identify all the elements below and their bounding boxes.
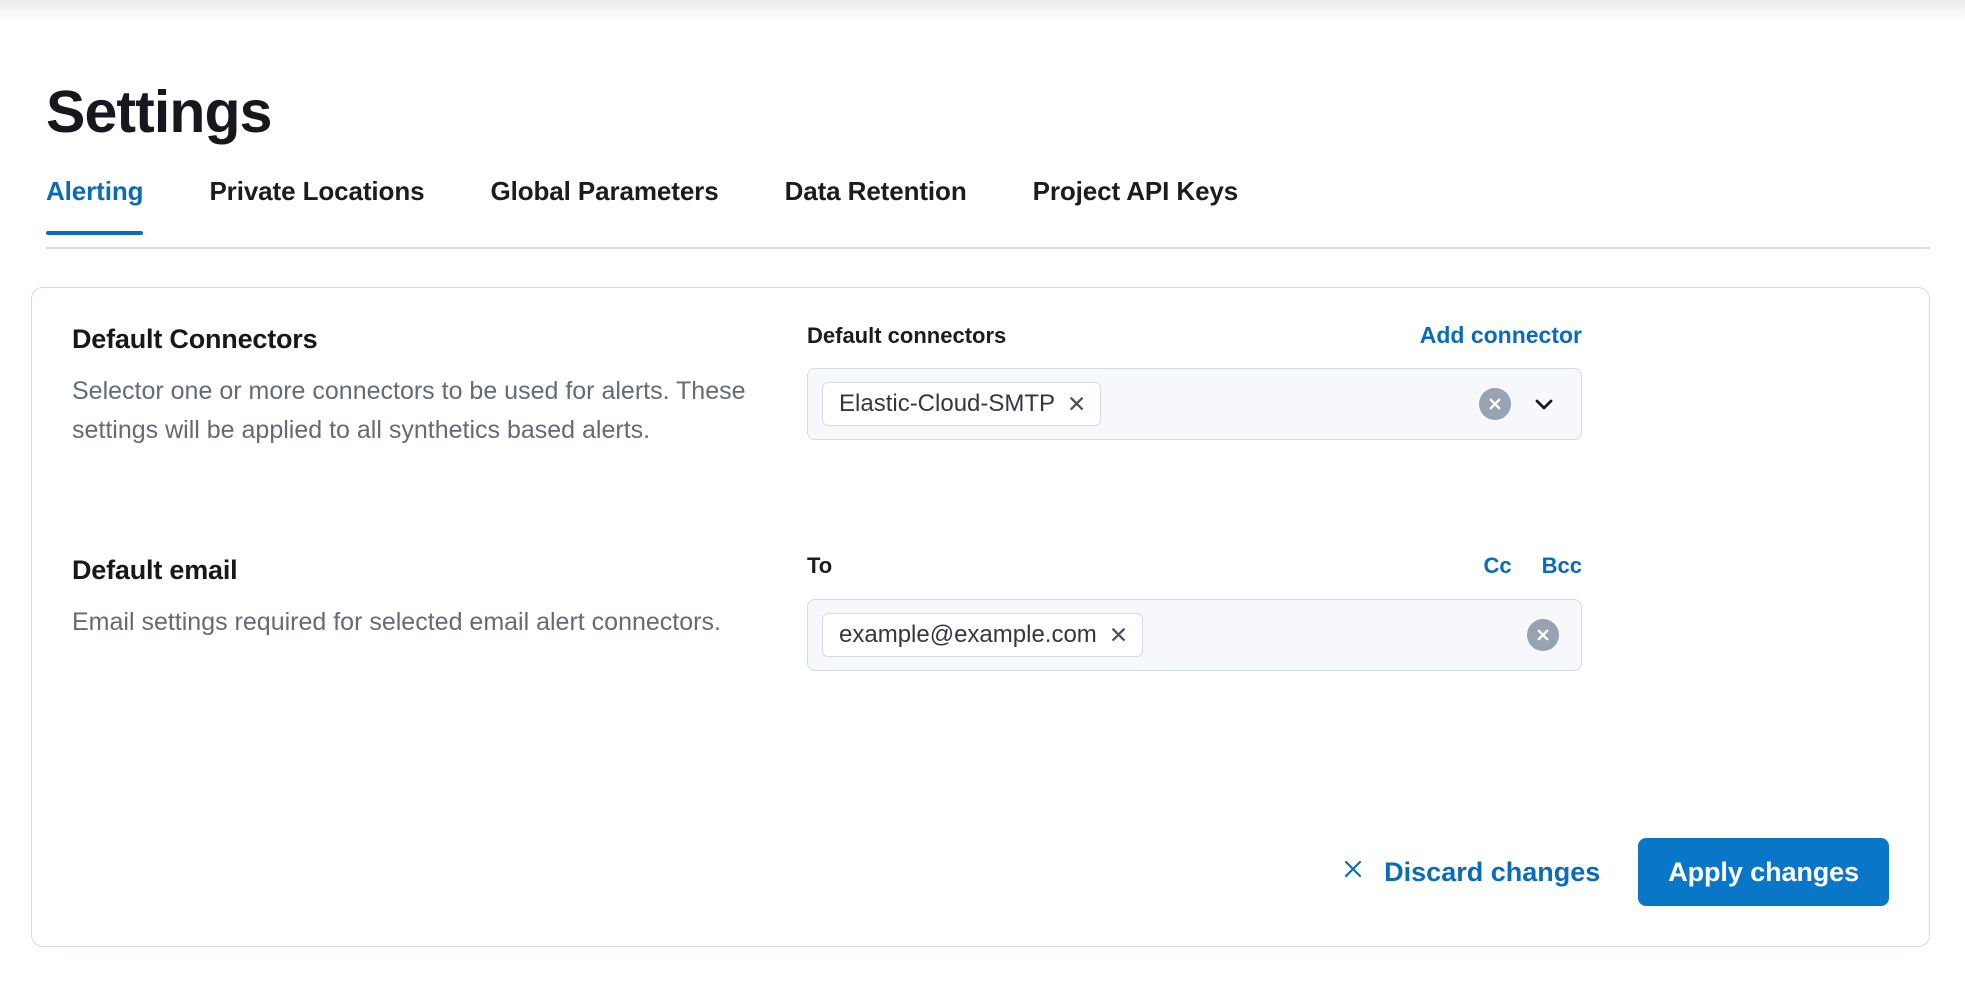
tab-alerting[interactable]: Alerting xyxy=(46,176,143,233)
default-email-field-header: To Cc Bcc xyxy=(807,553,1582,583)
default-email-section: Default email Email settings required fo… xyxy=(72,553,1582,671)
clear-connectors-icon[interactable] xyxy=(1479,388,1511,420)
chevron-down-icon[interactable] xyxy=(1527,387,1561,421)
apply-changes-button[interactable]: Apply changes xyxy=(1638,838,1889,906)
discard-changes-button[interactable]: Discard changes xyxy=(1334,846,1606,899)
cc-link[interactable]: Cc xyxy=(1484,553,1512,579)
cc-bcc-links: Cc Bcc xyxy=(1484,553,1582,579)
tab-data-retention[interactable]: Data Retention xyxy=(785,176,967,233)
bcc-link[interactable]: Bcc xyxy=(1542,553,1582,579)
discard-changes-label: Discard changes xyxy=(1384,857,1600,888)
tab-private-locations[interactable]: Private Locations xyxy=(209,176,424,233)
connector-pill[interactable]: Elastic-Cloud-SMTP ✕ xyxy=(822,382,1101,426)
default-email-title: Default email xyxy=(72,553,767,587)
default-connectors-description-col: Default Connectors Selector one or more … xyxy=(72,322,807,450)
default-email-control-col: To Cc Bcc example@example.com ✕ xyxy=(807,553,1582,671)
alerting-settings-card: Default Connectors Selector one or more … xyxy=(31,287,1930,947)
page-title: Settings xyxy=(46,78,272,146)
default-connectors-field-header: Default connectors Add connector xyxy=(807,322,1582,352)
tab-project-api-keys[interactable]: Project API Keys xyxy=(1033,176,1239,233)
recipient-pill[interactable]: example@example.com ✕ xyxy=(822,613,1143,657)
recipient-pill-label: example@example.com xyxy=(839,621,1097,649)
default-connectors-field-label: Default connectors xyxy=(807,323,1006,349)
default-connectors-combobox[interactable]: Elastic-Cloud-SMTP ✕ xyxy=(807,368,1582,440)
default-connectors-section: Default Connectors Selector one or more … xyxy=(72,322,1582,450)
default-connectors-description: Selector one or more connectors to be us… xyxy=(72,372,767,450)
to-field-label: To xyxy=(807,553,832,579)
settings-tabs: Alerting Private Locations Global Parame… xyxy=(46,176,1930,249)
remove-connector-icon[interactable]: ✕ xyxy=(1067,393,1086,416)
clear-recipients-icon[interactable] xyxy=(1527,619,1559,651)
card-footer-actions: Discard changes Apply changes xyxy=(1334,838,1889,906)
default-email-description: Email settings required for selected ema… xyxy=(72,603,767,642)
default-connectors-title: Default Connectors xyxy=(72,322,767,356)
tab-global-parameters[interactable]: Global Parameters xyxy=(490,176,718,233)
settings-page: Settings Alerting Private Locations Glob… xyxy=(0,0,1965,989)
close-x-icon xyxy=(1340,856,1366,889)
remove-recipient-icon[interactable]: ✕ xyxy=(1109,624,1128,647)
to-recipients-combobox[interactable]: example@example.com ✕ xyxy=(807,599,1582,671)
default-email-description-col: Default email Email settings required fo… xyxy=(72,553,807,671)
default-connectors-control-col: Default connectors Add connector Elastic… xyxy=(807,322,1582,450)
header-shadow xyxy=(0,0,1965,26)
connector-pill-label: Elastic-Cloud-SMTP xyxy=(839,390,1055,418)
add-connector-link[interactable]: Add connector xyxy=(1420,322,1582,348)
